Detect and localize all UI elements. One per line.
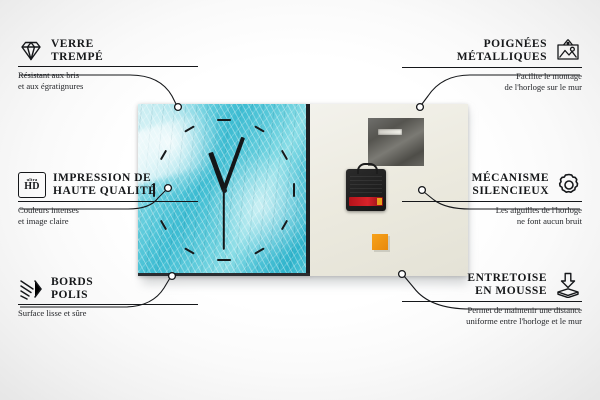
battery-cap [377,198,382,205]
feature-desc-line2: et image claire [18,216,198,227]
feature-title-line2: HAUTE QUALITÉ [53,185,156,198]
feature-title-line1: VERRE [51,38,103,51]
feature-verre-trempe: VERRE TREMPÉ Résistant aux bris et aux é… [18,38,198,91]
infographic-stage: VERRE TREMPÉ Résistant aux bris et aux é… [0,0,600,400]
polished-edges-icon [18,278,44,300]
feature-poignees-metalliques: POIGNÉES MÉTALLIQUES Facilite le montage… [402,38,582,92]
feature-description: Couleurs intenses et image claire [18,205,198,226]
feature-title-line2: SILENCIEUX [472,185,549,198]
feature-title: MÉCANISME SILENCIEUX [472,172,549,197]
feature-desc-line1: Facilite le montage [402,71,582,82]
feature-desc-line2: et aux égratignures [18,81,198,92]
feature-mecanisme-silencieux: MÉCANISME SILENCIEUX Les aiguilles de l'… [402,172,582,226]
feature-header: MÉCANISME SILENCIEUX [402,172,582,198]
feature-desc-line1: Résistant aux bris [18,70,198,81]
clock-mechanism-box [346,169,386,211]
feature-description: Facilite le montage de l'horloge sur le … [402,71,582,92]
feature-entretoise-en-mousse: ENTRETOISE EN MOUSSE Permet de maintenir… [402,272,582,326]
foam-spacer [372,234,388,250]
feature-title-line1: IMPRESSION DE [53,172,156,185]
feature-desc-line1: Les aiguilles de l'horloge [402,205,582,216]
feature-title: VERRE TREMPÉ [51,38,103,63]
feature-desc-line1: Permet de maintenir une distance [402,305,582,316]
second-hand [223,190,225,250]
feature-title-line1: ENTRETOISE [467,272,547,285]
feature-rule [402,67,582,68]
feature-rule [18,66,198,67]
picture-frame-icon [554,38,582,64]
clock-tick [217,259,231,261]
hanger-slot [378,129,402,135]
clock-center-hub [222,188,227,193]
feature-title-line2: MÉTALLIQUES [457,51,547,64]
ultra-hd-badge-main-text: HD [24,182,40,192]
feature-impression-haute-qualite: ultra HD IMPRESSION DE HAUTE QUALITÉ Cou… [18,172,198,226]
feature-header: ultra HD IMPRESSION DE HAUTE QUALITÉ [18,172,198,198]
feature-desc-line2: de l'horloge sur le mur [402,82,582,93]
ultra-hd-badge-icon: ultra HD [18,172,46,198]
feature-description: Permet de maintenir une distance uniform… [402,305,582,326]
feature-title: IMPRESSION DE HAUTE QUALITÉ [53,172,156,197]
feature-desc-line2: uniforme entre l'horloge et le mur [402,316,582,327]
feature-header: POIGNÉES MÉTALLIQUES [402,38,582,64]
feature-title-line2: TREMPÉ [51,51,103,64]
feature-title: POIGNÉES MÉTALLIQUES [457,38,547,63]
feature-description: Les aiguilles de l'horloge ne font aucun… [402,205,582,226]
feature-title: ENTRETOISE EN MOUSSE [467,272,547,297]
hanger-loop [357,163,378,174]
feature-description: Surface lisse et sûre [18,308,198,319]
feature-header: ENTRETOISE EN MOUSSE [402,272,582,298]
feature-rule [18,304,198,305]
feature-rule [402,301,582,302]
feature-title-line1: POIGNÉES [457,38,547,51]
mechanism-ribs [350,175,382,193]
feature-desc-line1: Couleurs intenses [18,205,198,216]
clock-tick [217,119,231,121]
feature-title-line2: POLIS [51,289,93,302]
feature-title-line1: BORDS [51,276,93,289]
feature-description: Résistant aux bris et aux égratignures [18,70,198,91]
foam-spacer-arrow-icon [554,272,582,298]
feature-bords-polis: BORDS POLIS Surface lisse et sûre [18,276,198,319]
clock-tick [293,183,295,197]
metal-hanger-plate [368,118,424,166]
feature-desc-line1: Surface lisse et sûre [18,308,198,319]
battery [349,197,383,206]
feature-desc-line2: ne font aucun bruit [402,216,582,227]
feature-header: VERRE TREMPÉ [18,38,198,63]
feature-title: BORDS POLIS [51,276,93,301]
feature-rule [18,201,198,202]
gear-icon [556,172,582,198]
feature-title-line1: MÉCANISME [472,172,549,185]
feature-header: BORDS POLIS [18,276,198,301]
feature-rule [402,201,582,202]
diamond-icon [18,39,44,63]
feature-title-line2: EN MOUSSE [467,285,547,298]
